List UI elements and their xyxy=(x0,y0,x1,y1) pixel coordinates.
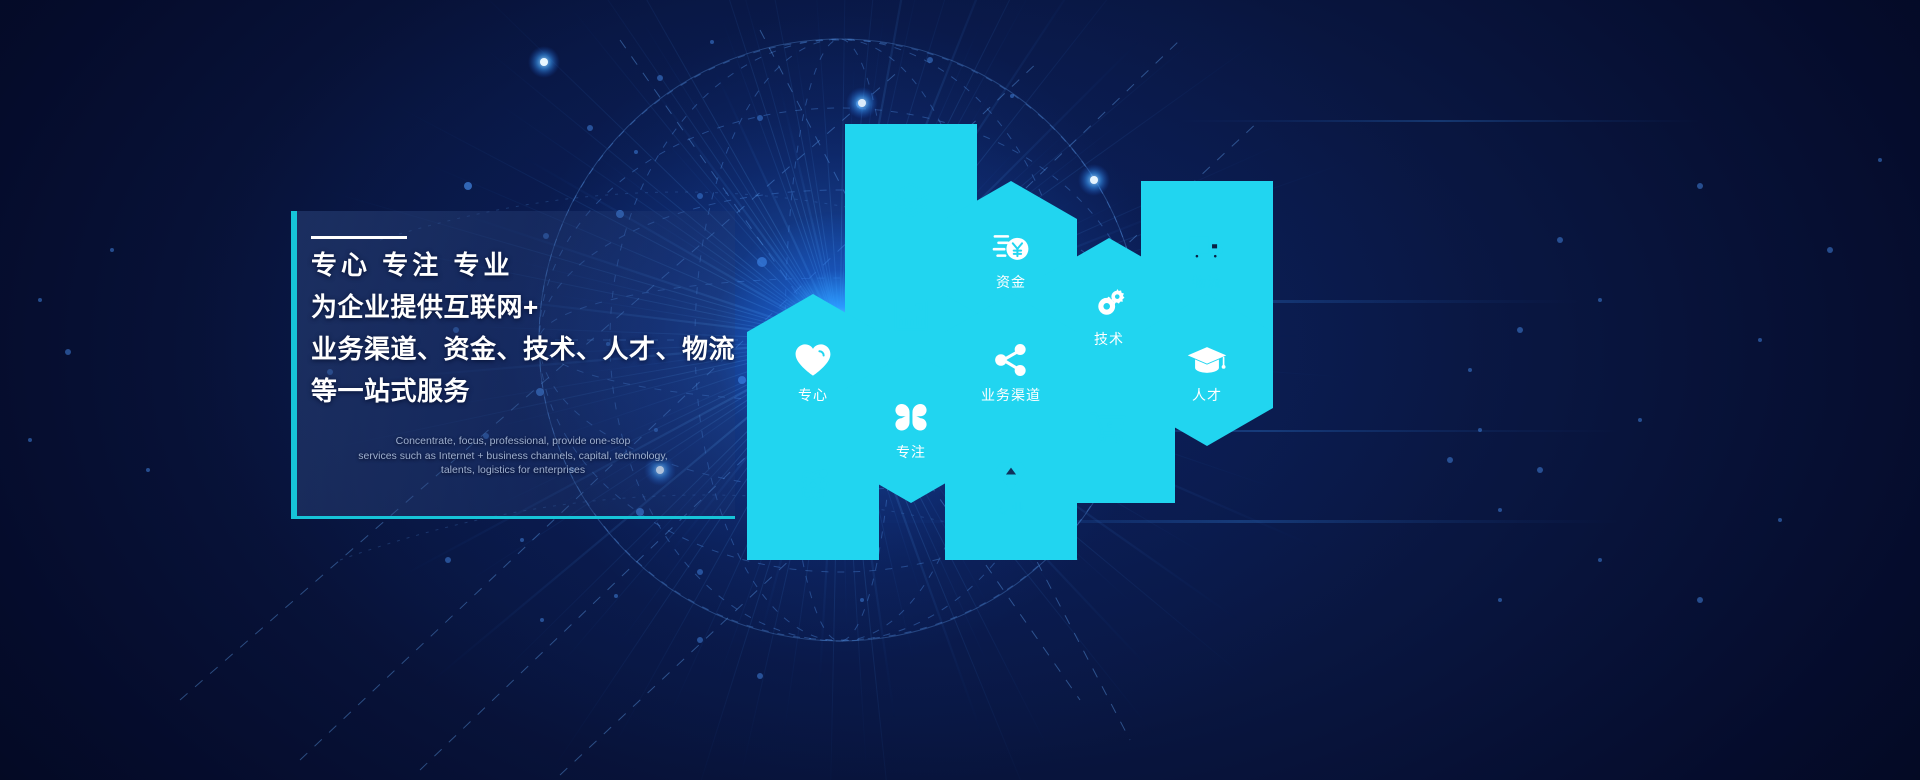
hexagon-label-tech: 技术 xyxy=(1094,332,1124,346)
hexagon-cluster: 资金 技术 物流 人才 专心 xyxy=(0,0,1920,780)
layers-icon xyxy=(889,178,933,222)
svg-text:e: e xyxy=(1107,416,1113,431)
hexagon-label-capital: 资金 xyxy=(996,275,1026,289)
shopping-cart-e-icon: e xyxy=(1087,405,1131,449)
hexagon-label-talent: 人才 xyxy=(1192,388,1222,402)
hexagon-label-logistics: 物流 xyxy=(1192,275,1222,289)
clover-icon xyxy=(889,395,933,439)
hexagon-label-attention: 专注 xyxy=(896,445,926,459)
diamond-icon xyxy=(989,452,1033,496)
heart-icon xyxy=(791,338,835,382)
hexagon-pro[interactable]: 专业 xyxy=(945,408,1077,560)
hexagon-label-focus: 专心 xyxy=(798,388,828,402)
hexagon-atom[interactable] xyxy=(747,408,879,560)
atom-icon xyxy=(791,462,835,506)
truck-icon xyxy=(1185,225,1229,269)
hexagon-label-channels: 业务渠道 xyxy=(981,388,1041,402)
yuan-coin-icon xyxy=(989,225,1033,269)
gears-icon xyxy=(1087,282,1131,326)
hexagon-label-pro: 专业 xyxy=(996,502,1026,516)
graduation-cap-icon xyxy=(1185,338,1229,382)
growth-chart-icon xyxy=(889,292,933,336)
share-nodes-icon xyxy=(989,338,1033,382)
banner-background: 专心 专注 专业 为企业提供互联网+ 业务渠道、资金、技术、人才、物流 等一站式… xyxy=(0,0,1920,780)
